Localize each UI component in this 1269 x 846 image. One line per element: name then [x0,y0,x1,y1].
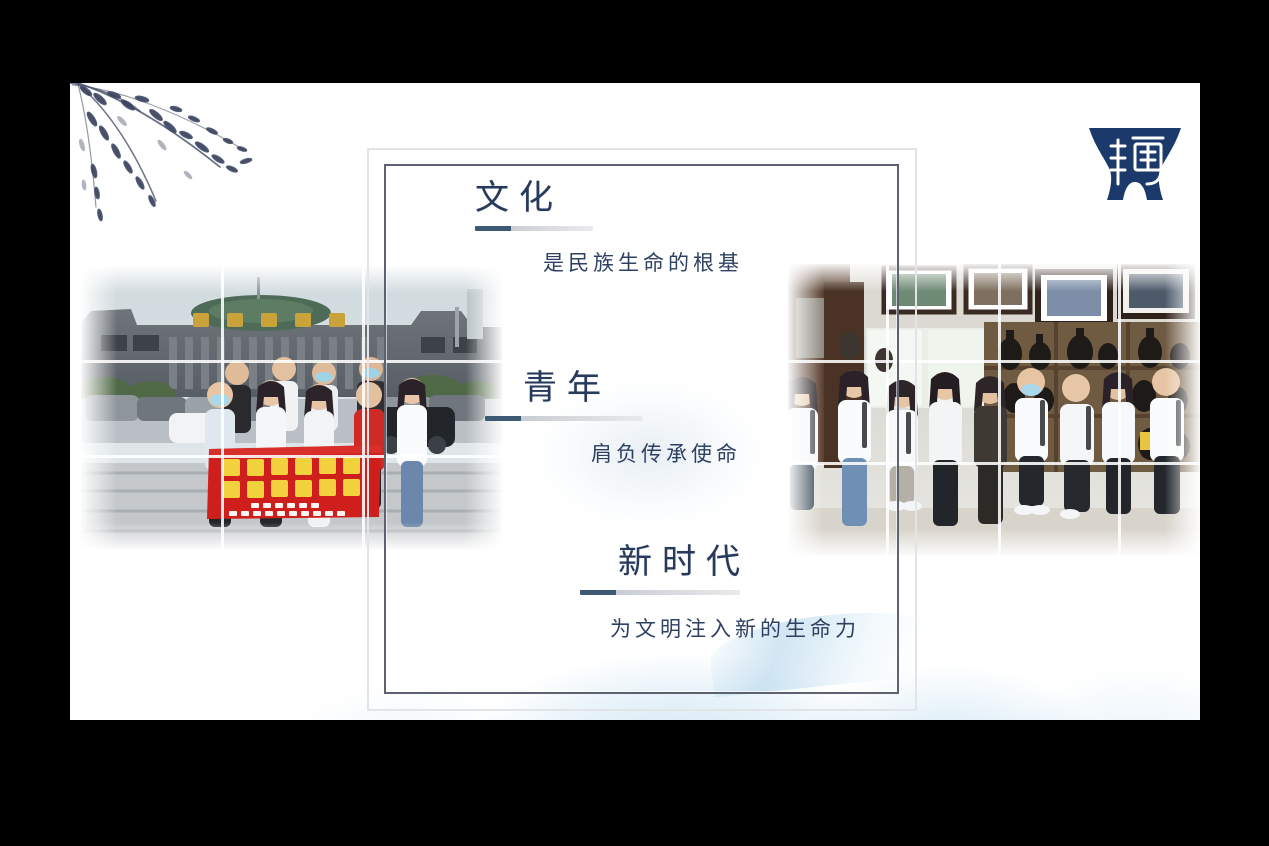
willow-branch-icon [70,83,310,265]
headline-rule-youth [485,416,643,421]
headline-era: 新时代 [618,545,860,581]
presentation-stage: 文化 是民族生命的根基 青年 肩负传承使命 新时代 为文明注入新的生命力 [0,0,1269,846]
headline-youth: 青年 [523,371,741,407]
headline-culture: 文化 [475,181,743,217]
slide-canvas: 文化 是民族生命的根基 青年 肩负传承使命 新时代 为文明注入新的生命力 [70,83,1200,720]
text-block-youth: 青年 肩负传承使命 [523,371,741,468]
headline-rule-era [580,590,740,595]
subline-culture: 是民族生命的根基 [543,247,743,277]
subline-era: 为文明注入新的生命力 [610,613,860,643]
text-block-era: 新时代 为文明注入新的生命力 [618,545,860,643]
mountain-wash-far-right [950,580,1200,720]
text-block-culture: 文化 是民族生命的根基 [475,181,743,277]
subline-youth: 肩负传承使命 [591,438,741,468]
headline-rule-culture [475,226,593,231]
longshan-pottery-vessel-logo [1075,112,1195,212]
